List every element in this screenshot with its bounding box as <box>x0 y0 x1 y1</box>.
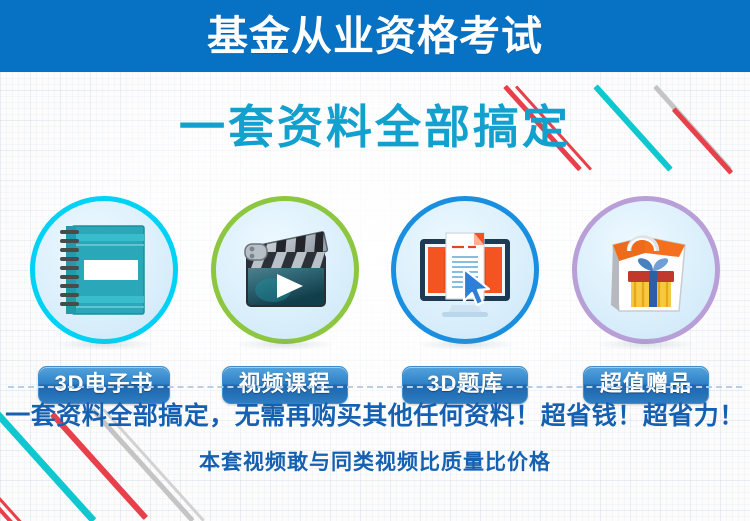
feature-circle-question-bank <box>391 196 539 344</box>
feature-item-question-bank[interactable]: 3D题库 <box>381 196 549 404</box>
footer-line-2: 本套视频敢与同类视频比质量比价格 <box>0 452 750 473</box>
subtitle-row: 一套资料全部搞定 <box>0 104 750 150</box>
monitor-document-cursor-icon <box>410 215 520 325</box>
clapperboard-play-icon <box>230 215 340 325</box>
header-band: 基金从业资格考试 <box>0 0 750 72</box>
feature-item-gift[interactable]: 超值赠品 <box>562 196 730 404</box>
footer-line-1: 一套资料全部搞定，无需再购买其他任何资料！超省钱！超省力！ <box>0 404 750 429</box>
feature-label-gift[interactable]: 超值赠品 <box>583 366 709 404</box>
notebook-icon <box>49 215 159 325</box>
feature-label-ebook[interactable]: 3D电子书 <box>38 366 169 404</box>
feature-label-video[interactable]: 视频课程 <box>222 366 348 404</box>
section-divider <box>8 386 742 388</box>
feature-circle-video <box>211 196 359 344</box>
subtitle-text: 一套资料全部搞定 <box>179 104 571 150</box>
feature-circle-ebook <box>30 196 178 344</box>
promo-banner: 基金从业资格考试 一套资料全部搞定 <box>0 0 750 521</box>
gift-shopping-bag-icon <box>591 215 701 325</box>
feature-circle-gift <box>572 196 720 344</box>
feature-list: 3D电子书 <box>0 196 750 404</box>
feature-item-video[interactable]: 视频课程 <box>201 196 369 404</box>
feature-item-ebook[interactable]: 3D电子书 <box>20 196 188 404</box>
feature-label-question-bank[interactable]: 3D题库 <box>402 366 528 404</box>
page-title: 基金从业资格考试 <box>207 16 543 57</box>
